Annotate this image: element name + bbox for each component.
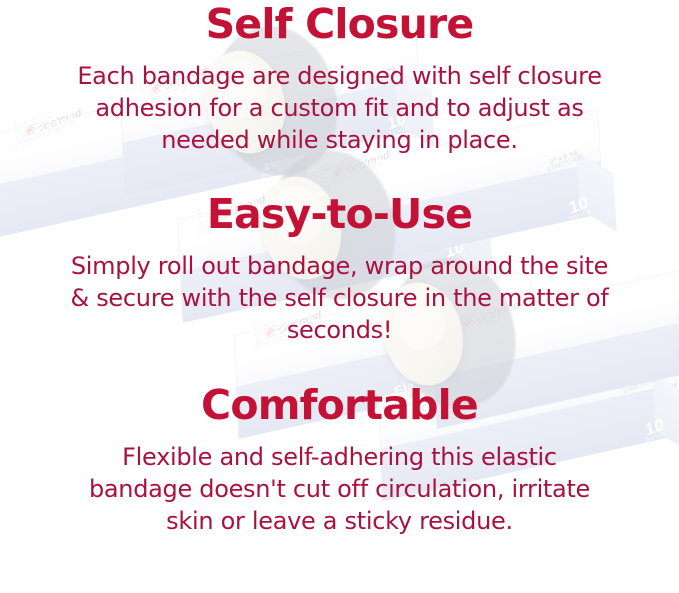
body-line: adhesion for a custom fit and to adjust …	[40, 92, 640, 124]
body-line: Each bandage are designed with self clos…	[40, 60, 640, 92]
feature-copy: Self Closure Each bandage are designed w…	[0, 0, 679, 593]
body-line: Simply roll out bandage, wrap around the…	[40, 250, 640, 282]
section-heading: Comfortable	[0, 383, 679, 427]
section-body: Each bandage are designed with self clos…	[40, 60, 640, 156]
body-line: & secure with the self closure in the ma…	[40, 282, 640, 314]
section-self-closure: Self Closure Each bandage are designed w…	[0, 2, 679, 156]
section-easy-to-use: Easy-to-Use Simply roll out bandage, wra…	[0, 192, 679, 346]
body-line: skin or leave a sticky residue.	[40, 505, 640, 537]
section-heading: Self Closure	[0, 2, 679, 46]
body-line: Flexible and self-adhering this elastic	[40, 441, 640, 473]
section-comfortable: Comfortable Flexible and self-adhering t…	[0, 383, 679, 537]
section-body: Simply roll out bandage, wrap around the…	[40, 250, 640, 346]
body-line: bandage doesn't cut off circulation, irr…	[40, 473, 640, 505]
section-heading: Easy-to-Use	[0, 192, 679, 236]
product-infographic: ❀dealmed ElasticBandages with self-closu…	[0, 0, 679, 593]
body-line: needed while staying in place.	[40, 124, 640, 156]
body-line: seconds!	[40, 314, 640, 346]
section-body: Flexible and self-adhering this elastic …	[40, 441, 640, 537]
